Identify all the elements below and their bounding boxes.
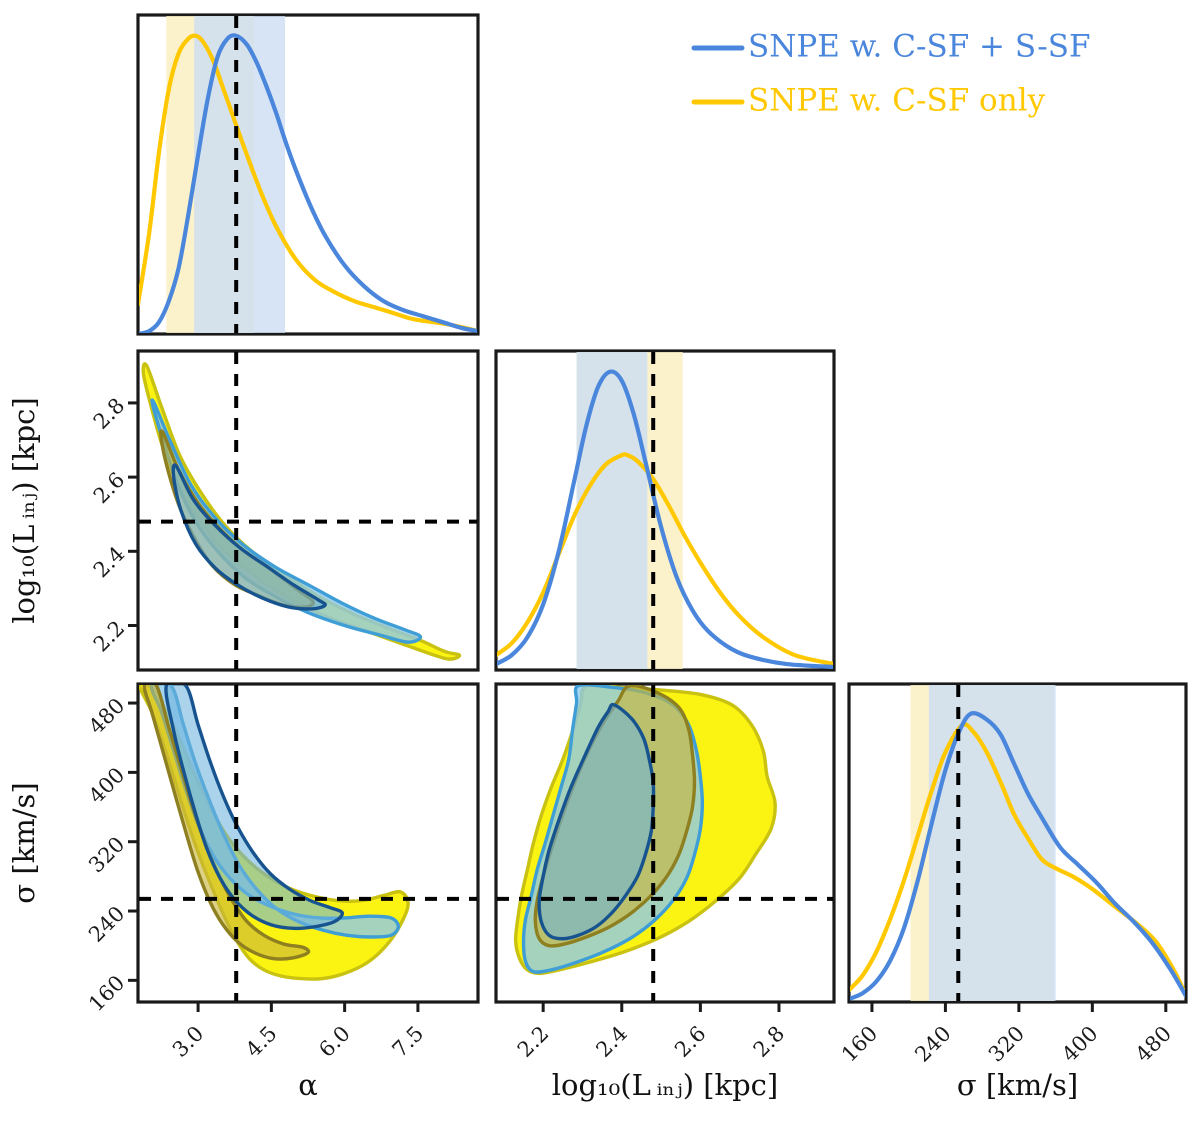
joint-panel-alpha-logL bbox=[138, 351, 478, 670]
x-tick-label: 6.0 bbox=[314, 1021, 355, 1062]
legend-label-1: SNPE w. C-SF only bbox=[748, 83, 1046, 119]
x-axis-title-logL: log₁₀(L ᵢₙⱼ) [kpc] bbox=[552, 1068, 779, 1102]
y-axis-title-sigma: σ [km/s] bbox=[7, 782, 41, 903]
legend-label-0: SNPE w. C-SF + S-SF bbox=[748, 29, 1090, 65]
x-tick-label: 2.2 bbox=[513, 1021, 554, 1062]
x-axis-title-alpha: α bbox=[298, 1068, 318, 1102]
y-tick-label: 400 bbox=[84, 763, 129, 808]
x-tick-label: 160 bbox=[837, 1021, 882, 1066]
x-tick-label: 240 bbox=[910, 1021, 955, 1066]
corner-plot-figure: 3.04.56.07.52.22.42.62.81602403204004802… bbox=[0, 0, 1200, 1131]
x-tick-label: 7.5 bbox=[388, 1021, 429, 1062]
y-tick-label: 2.2 bbox=[89, 616, 130, 657]
marginal-panel-alpha bbox=[138, 15, 478, 334]
joint-panel-alpha-sigma bbox=[138, 680, 478, 1002]
legend: SNPE w. C-SF + S-SFSNPE w. C-SF only bbox=[694, 29, 1090, 119]
y-tick-label: 160 bbox=[84, 971, 129, 1016]
x-tick-label: 480 bbox=[1131, 1021, 1176, 1066]
y-tick-label: 320 bbox=[84, 832, 129, 877]
x-tick-label: 320 bbox=[984, 1021, 1029, 1066]
corner-plot-canvas: 3.04.56.07.52.22.42.62.81602403204004802… bbox=[0, 0, 1200, 1131]
x-tick-label: 2.8 bbox=[749, 1021, 790, 1062]
y-tick-label: 480 bbox=[84, 694, 129, 739]
x-tick-label: 3.0 bbox=[168, 1021, 209, 1062]
x-axis-title-sigma: σ [km/s] bbox=[957, 1068, 1078, 1102]
y-axis-title-logL: log₁₀(L ᵢₙⱼ) [kpc] bbox=[7, 397, 41, 624]
ci68-band-blue bbox=[929, 685, 1056, 1001]
marginal-panel-sigma bbox=[849, 684, 1186, 1002]
joint-panel-logL-sigma bbox=[496, 684, 834, 1002]
x-tick-label: 2.6 bbox=[670, 1021, 711, 1062]
x-tick-label: 4.5 bbox=[241, 1021, 282, 1062]
ci68-band-blue bbox=[577, 352, 648, 669]
x-tick-label: 2.4 bbox=[591, 1021, 632, 1062]
y-tick-label: 2.6 bbox=[89, 468, 130, 509]
y-tick-label: 240 bbox=[84, 901, 129, 946]
ci68-band-blue bbox=[194, 16, 285, 333]
marginal-panel-logL bbox=[496, 351, 834, 670]
y-tick-label: 2.4 bbox=[89, 542, 130, 583]
x-tick-label: 400 bbox=[1057, 1021, 1102, 1066]
y-tick-label: 2.8 bbox=[89, 393, 130, 434]
